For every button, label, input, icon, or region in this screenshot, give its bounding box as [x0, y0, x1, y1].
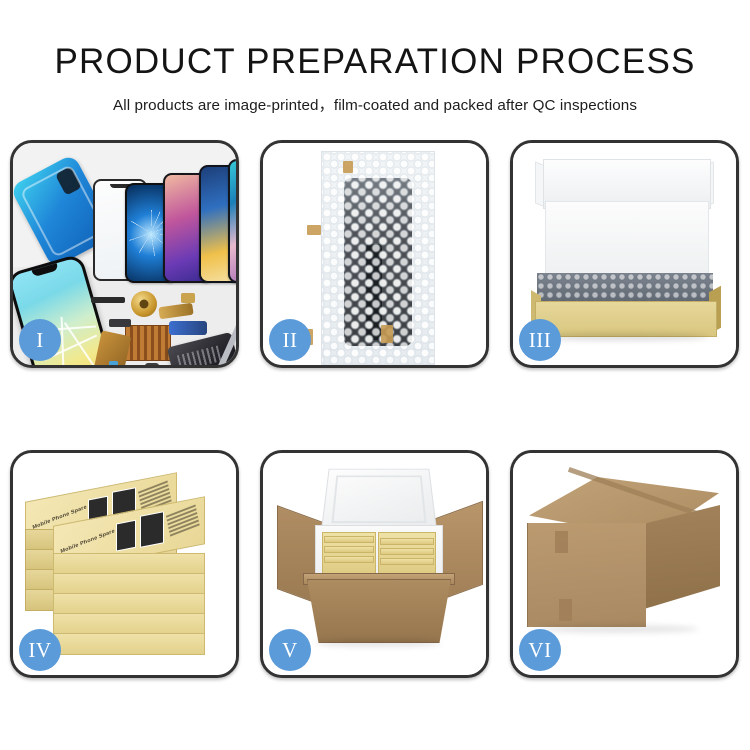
drop-shadow — [541, 333, 709, 341]
box-screen-image — [140, 511, 164, 548]
small-part — [145, 363, 159, 365]
step-badge-5: V — [269, 629, 311, 671]
packed-retail-box-edge — [380, 558, 434, 565]
process-step-card-2: II — [260, 140, 489, 368]
small-part — [109, 319, 131, 327]
process-step-card-5: V — [260, 450, 489, 678]
stacked-box-layer — [53, 633, 205, 655]
process-step-card-3: III — [510, 140, 739, 368]
step-badge-6: VI — [519, 629, 561, 671]
process-step-card-4: Mobile Phone Spare Parts Mo — [10, 450, 239, 678]
small-part — [181, 293, 195, 303]
packed-retail-box-edge — [324, 536, 374, 543]
foam-cooler-lid — [321, 469, 437, 532]
process-step-card-6: VI — [510, 450, 739, 678]
copper-coil-part — [131, 291, 157, 317]
stacked-box-layer — [53, 593, 205, 615]
kraft-box-front — [535, 301, 717, 337]
stacked-box-layer — [53, 553, 205, 575]
tape-piece — [343, 161, 353, 173]
process-step-card-1: I — [10, 140, 239, 368]
step-badge-3: III — [519, 319, 561, 361]
phone-screen-4 — [230, 161, 236, 281]
bubble-wrap-bag — [321, 151, 435, 365]
box-screen-image — [116, 520, 136, 552]
packed-retail-box-edge — [380, 538, 434, 545]
stacked-box-layer — [53, 573, 205, 595]
phone-display-4 — [228, 159, 236, 283]
carton-front-panel — [527, 523, 646, 627]
step-badge-4: IV — [19, 629, 61, 671]
camera-module-icon — [55, 166, 82, 196]
bubble-texture — [322, 152, 434, 364]
tape-piece — [307, 225, 321, 235]
page-title: PRODUCT PREPARATION PROCESS — [0, 0, 750, 82]
step-badge-1: I — [19, 319, 61, 361]
packed-retail-box-edge — [324, 546, 374, 553]
white-foam-pad — [545, 201, 709, 279]
small-part — [109, 361, 118, 365]
tape-piece — [559, 599, 572, 621]
drop-shadow — [539, 625, 699, 633]
product-preparation-page: PRODUCT PREPARATION PROCESS All products… — [0, 0, 750, 750]
packed-retail-box-edge — [380, 548, 434, 555]
drop-shadow — [315, 639, 441, 647]
page-header: PRODUCT PREPARATION PROCESS All products… — [0, 0, 750, 115]
stacked-box-layer — [53, 613, 205, 635]
step-badge-2: II — [269, 319, 311, 361]
flex-cable-part — [169, 321, 207, 335]
packed-retail-box-edge — [324, 556, 374, 563]
tape-piece — [381, 325, 393, 343]
chip-grid-part — [125, 325, 171, 361]
ribbon-connector-part — [91, 297, 125, 303]
page-subtitle: All products are image-printed，film-coat… — [0, 82, 750, 115]
process-step-grid: I II — [10, 140, 740, 678]
carton-front-panel — [307, 579, 451, 643]
tape-piece — [555, 531, 568, 553]
retail-box-spec-list-front — [166, 504, 200, 538]
